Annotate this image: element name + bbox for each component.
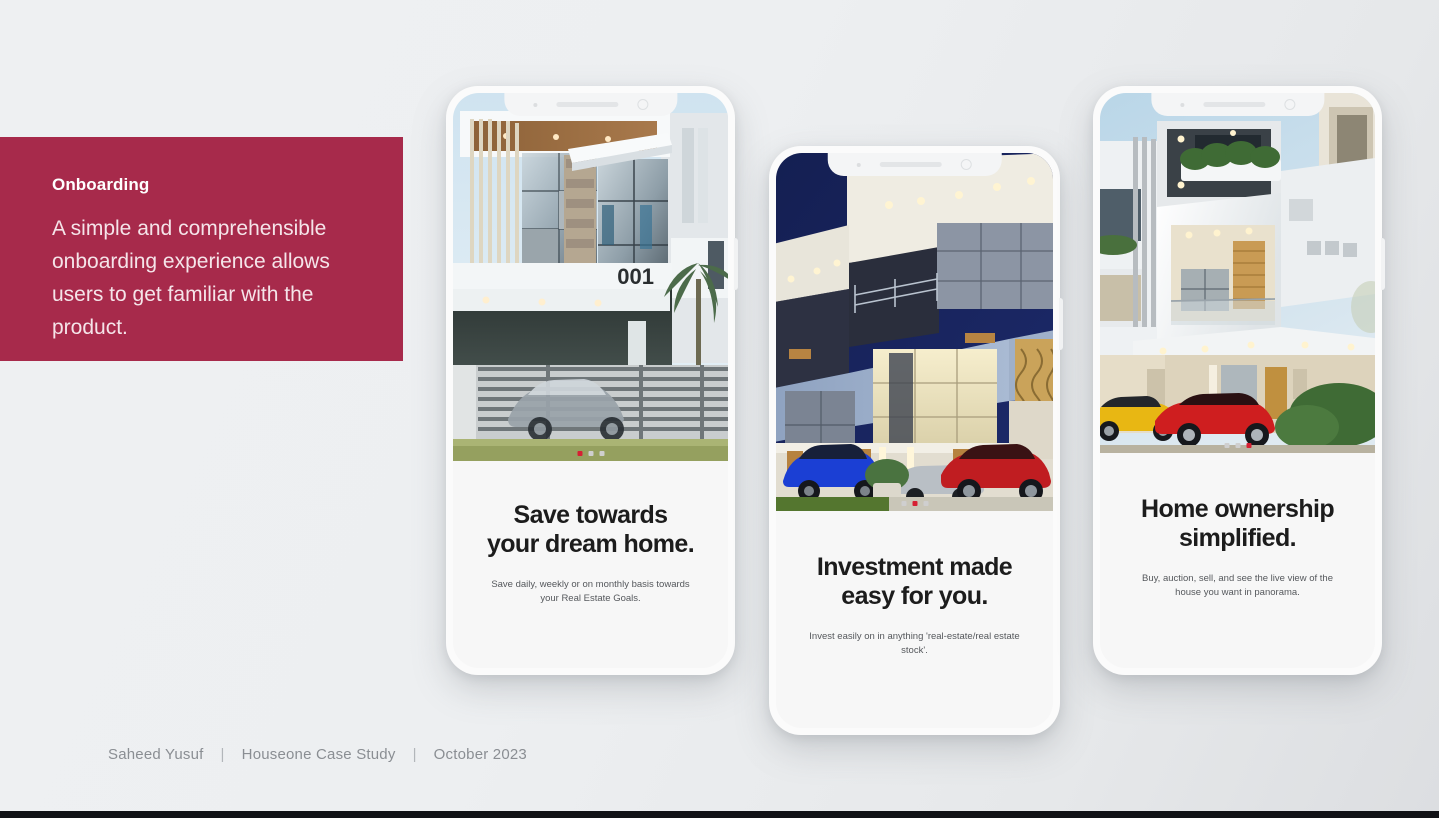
pager-dot-2[interactable]: [912, 501, 917, 506]
phone-notch: [504, 93, 677, 116]
pager-dot-3[interactable]: [599, 451, 604, 456]
pager-dot-1[interactable]: [901, 501, 906, 506]
onboarding-subline-3: Buy, auction, sell, and see the live vie…: [1100, 572, 1375, 600]
footer-separator-1: |: [204, 746, 242, 763]
onboarding-subline-1: Save daily, weekly or on monthly basis t…: [453, 578, 728, 606]
headline-line-2: easy for you.: [776, 582, 1053, 611]
onboarding-headline-1: Save towards your dream home.: [453, 501, 728, 559]
phone-side-button[interactable]: [1381, 238, 1385, 290]
pager-dot-1[interactable]: [577, 451, 582, 456]
pager-dot-1[interactable]: [1224, 443, 1229, 448]
pager-dot-2[interactable]: [588, 451, 593, 456]
onboarding-subline-2: Invest easily on in anything 'real-estat…: [776, 630, 1053, 658]
headline-line-2: your dream home.: [453, 530, 728, 559]
phone-mockup-2: Investment made easy for you. Invest eas…: [769, 146, 1060, 735]
onboarding-headline-3: Home ownership simplified.: [1100, 495, 1375, 553]
speaker-grill-icon: [556, 102, 618, 107]
onboarding-caption-1: Save towards your dream home. Save daily…: [453, 461, 728, 668]
onboarding-caption-3: Home ownership simplified. Buy, auction,…: [1100, 453, 1375, 668]
phone-side-button[interactable]: [1059, 298, 1063, 350]
headline-line-1: Investment made: [776, 553, 1053, 582]
phone-side-button[interactable]: [734, 238, 738, 290]
sensor-dot-icon: [533, 103, 537, 107]
headline-line-2: simplified.: [1100, 524, 1375, 553]
front-camera-icon: [961, 159, 972, 170]
onboarding-hero-image-2: [776, 153, 1053, 511]
phone-screen-3: Home ownership simplified. Buy, auction,…: [1100, 93, 1375, 668]
headline-line-1: Save towards: [453, 501, 728, 530]
pager-dot-3[interactable]: [923, 501, 928, 506]
callout-title: Onboarding: [52, 175, 353, 195]
phone-screen-2: Investment made easy for you. Invest eas…: [776, 153, 1053, 728]
onboarding-callout-card: Onboarding A simple and comprehensible o…: [0, 137, 403, 361]
footer-author: Saheed Yusuf: [108, 746, 204, 763]
footer-date: October 2023: [434, 746, 527, 763]
bottom-edge-strip: [0, 811, 1439, 818]
callout-body-text: A simple and comprehensible onboarding e…: [52, 212, 353, 344]
pager-dots-1[interactable]: [577, 451, 604, 456]
sensor-dot-icon: [1180, 103, 1184, 107]
pager-dot-3[interactable]: [1246, 443, 1251, 448]
headline-line-1: Home ownership: [1100, 495, 1375, 524]
sensor-dot-icon: [857, 163, 861, 167]
front-camera-icon: [1284, 99, 1295, 110]
pager-dots-2[interactable]: [901, 501, 928, 506]
footer-project: Houseone Case Study: [242, 746, 396, 763]
phone-mockup-1: 001: [446, 86, 735, 675]
onboarding-hero-image-3: [1100, 93, 1375, 453]
speaker-grill-icon: [1203, 102, 1265, 107]
footer-separator-2: |: [396, 746, 434, 763]
phone-notch: [827, 153, 1002, 176]
slide-footer: Saheed Yusuf | Houseone Case Study | Oct…: [108, 746, 527, 763]
onboarding-hero-image-1: 001: [453, 93, 728, 461]
onboarding-headline-2: Investment made easy for you.: [776, 553, 1053, 611]
svg-text:001: 001: [617, 264, 654, 289]
pager-dots-3[interactable]: [1224, 443, 1251, 448]
speaker-grill-icon: [880, 162, 942, 167]
onboarding-caption-2: Investment made easy for you. Invest eas…: [776, 511, 1053, 728]
phone-notch: [1151, 93, 1324, 116]
pager-dot-2[interactable]: [1235, 443, 1240, 448]
phone-mockup-3: Home ownership simplified. Buy, auction,…: [1093, 86, 1382, 675]
front-camera-icon: [637, 99, 648, 110]
phone-screen-1: 001: [453, 93, 728, 668]
